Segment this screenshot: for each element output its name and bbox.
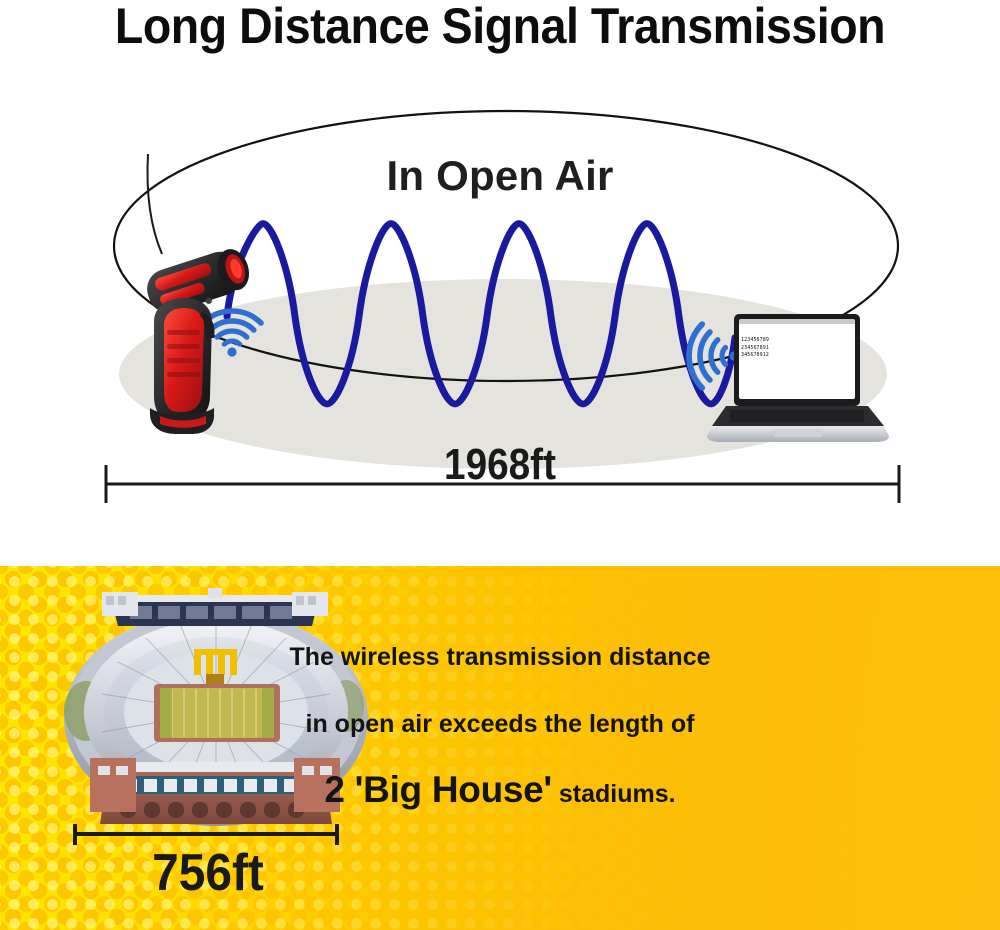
comparison-copy: The wireless transmission distance in op… [0,645,1000,808]
copy-line-3: 2 'Big House' stadiums. [0,771,1000,808]
laptop-code-line-2: 234567891 [741,345,793,353]
copy-line-2: in open air exceeds the length of [0,712,1000,737]
infographic-page: Long Distance Signal Transmission [0,0,1000,930]
distance-label-open-air: 1968ft [60,440,940,490]
copy-rest: stadiums. [552,780,676,808]
page-title: Long Distance Signal Transmission [35,0,965,54]
laptop-code-line-1: 123456789 [741,337,793,345]
copy-emphasis: 2 'Big House' [324,769,552,810]
distance-label-stadium: 756ft [84,843,332,903]
laptop-screen-code: 123456789 234567891 345678912 [741,337,793,360]
laptop-code-line-3: 345678912 [741,352,793,360]
open-air-label: In Open Air [0,152,1000,200]
copy-line-1: The wireless transmission distance [0,645,1000,670]
